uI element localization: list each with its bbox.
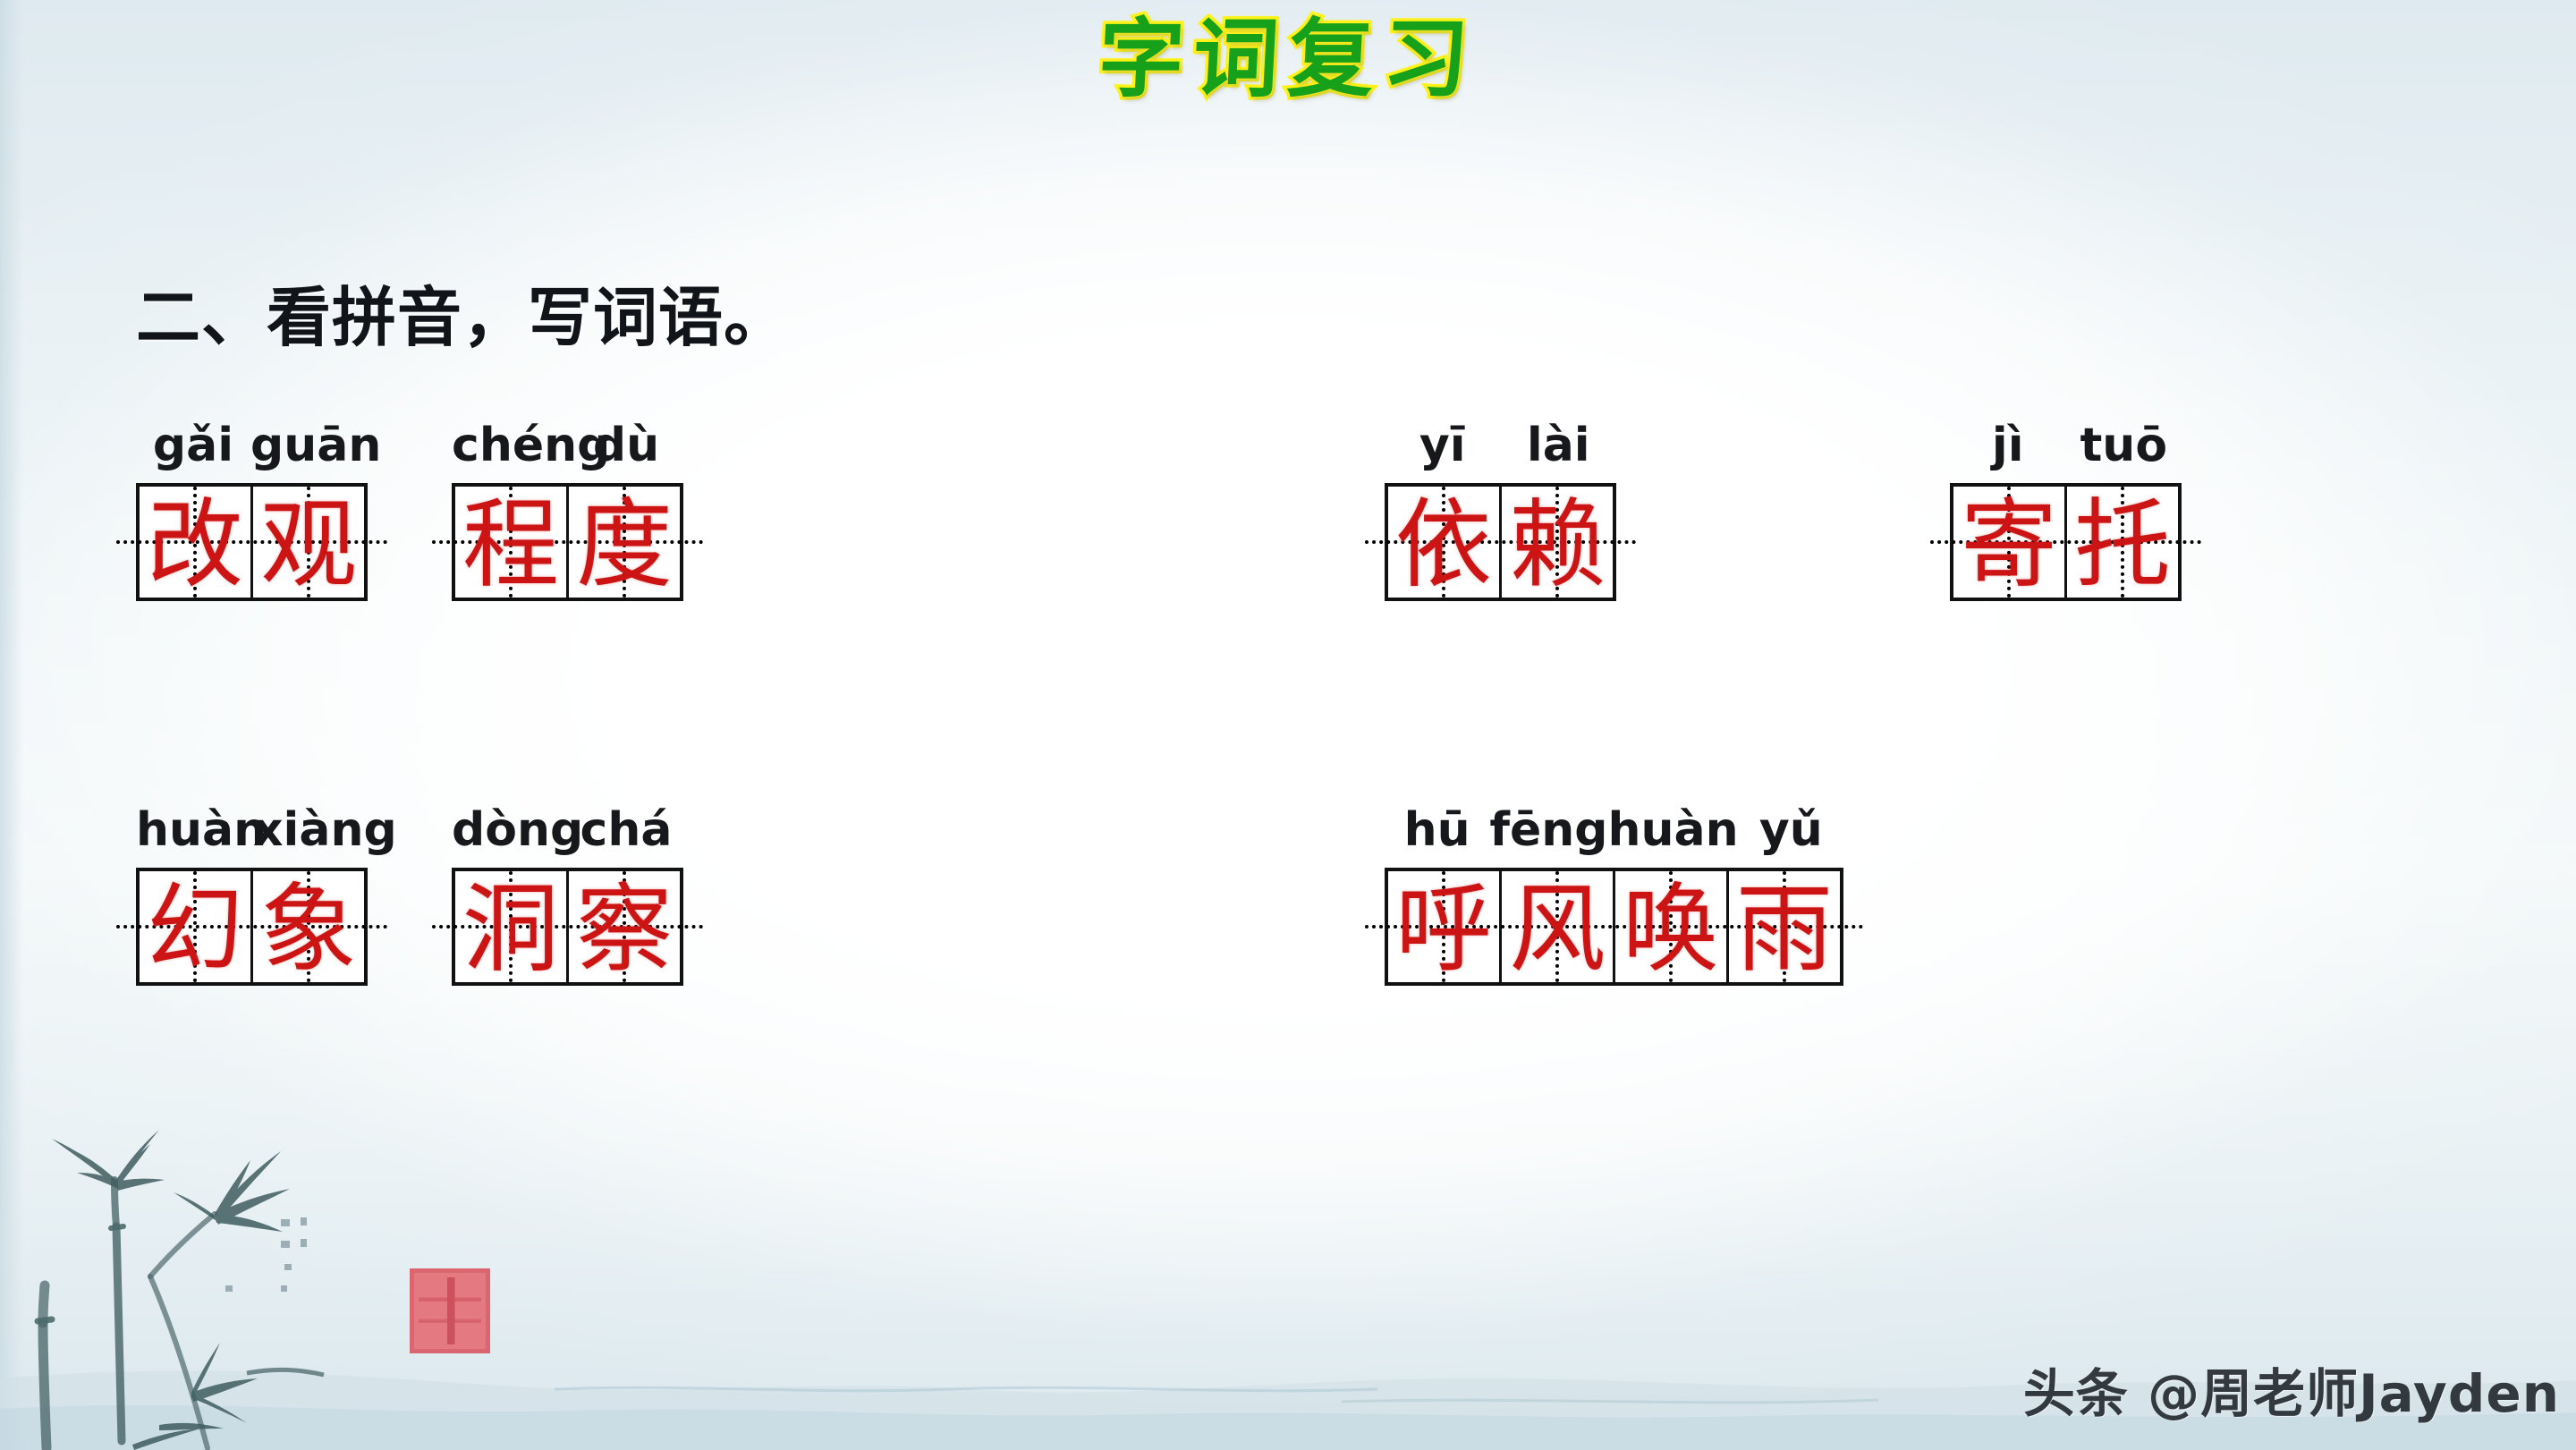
pinyin-syllable: gǎi — [136, 419, 250, 472]
character-grid: 洞察 — [452, 868, 683, 986]
hanzi-character: 度 — [576, 497, 673, 594]
hanzi-character: 赖 — [1509, 497, 1606, 594]
section-heading: 二、看拼音，写词语。 — [136, 265, 789, 359]
character-grid: 改观 — [136, 483, 368, 601]
pinyin-syllable: tuō — [2066, 419, 2182, 472]
hanzi-character: 程 — [462, 497, 559, 594]
pinyin-syllable: xiàng — [253, 803, 370, 857]
hanzi-character: 幻 — [147, 882, 243, 979]
character-grid: 呼风唤雨 — [1385, 868, 1843, 986]
pinyin-syllable: dù — [569, 419, 683, 472]
character-cell[interactable]: 寄 — [1953, 487, 2067, 598]
character-cell[interactable]: 程 — [455, 487, 569, 598]
character-cell[interactable]: 依 — [1388, 487, 1502, 598]
character-cell[interactable]: 象 — [253, 871, 364, 982]
pinyin-syllable: chéng — [452, 419, 569, 472]
pinyin-syllable: huàn — [1607, 803, 1738, 857]
pinyin-syllable: guān — [250, 419, 368, 472]
hanzi-character: 雨 — [1736, 882, 1833, 979]
slide-canvas: 字词复习 二、看拼音，写词语。 gǎiguān改观chéngdù程度yīlài依… — [0, 0, 2576, 1450]
pinyin-syllable: dòng — [452, 803, 569, 857]
character-cell[interactable]: 风 — [1502, 871, 1615, 982]
word-group: huànxiàng幻象 — [136, 803, 368, 986]
title-container: 字词复习 — [0, 5, 2576, 113]
watermark-credit: 头条 @周老师Jayden — [2023, 1352, 2560, 1427]
character-grid: 幻象 — [136, 868, 368, 986]
pinyin-syllable: jì — [1950, 419, 2066, 472]
word-group: gǎiguān改观 — [136, 419, 368, 601]
character-grid: 寄托 — [1950, 483, 2182, 601]
word-group: hūfēnghuànyǔ呼风唤雨 — [1385, 803, 1843, 986]
pinyin-row: jìtuō — [1950, 419, 2182, 472]
pinyin-syllable: yǔ — [1739, 803, 1843, 857]
character-cell[interactable]: 幻 — [140, 871, 253, 982]
pinyin-row: hūfēnghuànyǔ — [1385, 803, 1843, 857]
pinyin-row: chéngdù — [452, 419, 683, 472]
hanzi-character: 寄 — [1961, 497, 2057, 594]
hanzi-character: 象 — [260, 882, 357, 979]
hanzi-character: 察 — [576, 882, 673, 979]
character-cell[interactable]: 察 — [569, 871, 680, 982]
hanzi-character: 呼 — [1395, 882, 1492, 979]
red-seal-stamp — [410, 1268, 490, 1353]
pinyin-syllable: chá — [569, 803, 683, 857]
character-cell[interactable]: 赖 — [1502, 487, 1613, 598]
pinyin-syllable: hū — [1385, 803, 1489, 857]
character-grid: 依赖 — [1385, 483, 1616, 601]
character-cell[interactable]: 改 — [140, 487, 253, 598]
character-cell[interactable]: 唤 — [1615, 871, 1729, 982]
hanzi-character: 托 — [2074, 497, 2171, 594]
page-title: 字词复习 — [1096, 5, 1480, 113]
pinyin-syllable: lài — [1501, 419, 1617, 472]
pinyin-row: huànxiàng — [136, 803, 368, 857]
character-cell[interactable]: 呼 — [1388, 871, 1502, 982]
hanzi-character: 改 — [147, 497, 243, 594]
character-cell[interactable]: 雨 — [1729, 871, 1840, 982]
word-group: dòngchá洞察 — [452, 803, 683, 986]
pinyin-row: yīlài — [1385, 419, 1616, 472]
pinyin-syllable: yī — [1385, 419, 1501, 472]
character-cell[interactable]: 观 — [253, 487, 364, 598]
hanzi-character: 洞 — [462, 882, 559, 979]
pinyin-row: gǎiguān — [136, 419, 368, 472]
word-group: jìtuō寄托 — [1950, 419, 2182, 601]
bamboo-ink-painting — [16, 1074, 401, 1450]
pinyin-syllable: huàn — [136, 803, 253, 857]
character-cell[interactable]: 托 — [2067, 487, 2178, 598]
hanzi-character: 风 — [1509, 882, 1606, 979]
word-group: chéngdù程度 — [452, 419, 683, 601]
pinyin-row: dòngchá — [452, 803, 683, 857]
pinyin-syllable: fēng — [1489, 803, 1607, 857]
word-group: yīlài依赖 — [1385, 419, 1616, 601]
hanzi-character: 依 — [1395, 497, 1492, 594]
character-cell[interactable]: 洞 — [455, 871, 569, 982]
character-cell[interactable]: 度 — [569, 487, 680, 598]
hanzi-character: 唤 — [1623, 882, 1719, 979]
hanzi-character: 观 — [260, 497, 357, 594]
character-grid: 程度 — [452, 483, 683, 601]
